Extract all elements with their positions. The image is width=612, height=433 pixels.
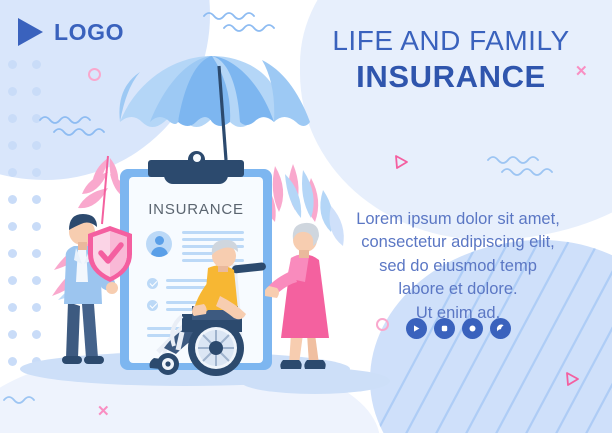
body-line: consectetur adipiscing elit, <box>322 231 594 254</box>
poster-canvas: ✕ ✕ <box>0 0 612 433</box>
headline-line-1: LIFE AND FAMILY <box>306 24 596 58</box>
wheelchair-caster-wheel <box>157 353 179 375</box>
body-line: labore et dolore. <box>322 278 594 301</box>
wheelchair-large-wheel <box>188 320 244 376</box>
pink-triangle-outline-mid <box>392 153 410 176</box>
body-paragraph: Lorem ipsum dolor sit amet, consectetur … <box>322 208 594 325</box>
logo[interactable]: LOGO <box>18 18 124 46</box>
record-circle-icon[interactable] <box>462 318 483 339</box>
page-title: LIFE AND FAMILY INSURANCE <box>306 24 596 96</box>
wave-decoration-bottom-left <box>2 392 52 408</box>
logo-text: LOGO <box>54 19 124 46</box>
clipboard-title: INSURANCE <box>120 201 272 218</box>
pink-x-mark-bottom: ✕ <box>97 404 110 419</box>
wave-decoration-right <box>486 152 568 178</box>
social-icon-row <box>322 318 594 339</box>
play-triangle-icon <box>18 18 43 46</box>
pink-circle-outline-top <box>88 68 101 81</box>
umbrella-canopy <box>119 56 310 127</box>
play-icon[interactable] <box>406 318 427 339</box>
body-line: Lorem ipsum dolor sit amet, <box>322 208 594 231</box>
headline-line-2: INSURANCE <box>306 58 596 97</box>
wave-decoration-left <box>38 112 120 138</box>
elderly-man-in-wheelchair <box>148 240 278 375</box>
wave-decoration-top <box>202 8 284 34</box>
phone-icon[interactable] <box>490 318 511 339</box>
stop-square-icon[interactable] <box>434 318 455 339</box>
pink-triangle-outline <box>563 370 581 393</box>
clipboard-clip-ring <box>188 151 205 168</box>
body-line: sed do eiusmod temp <box>322 255 594 278</box>
shield-check-icon <box>84 224 134 282</box>
